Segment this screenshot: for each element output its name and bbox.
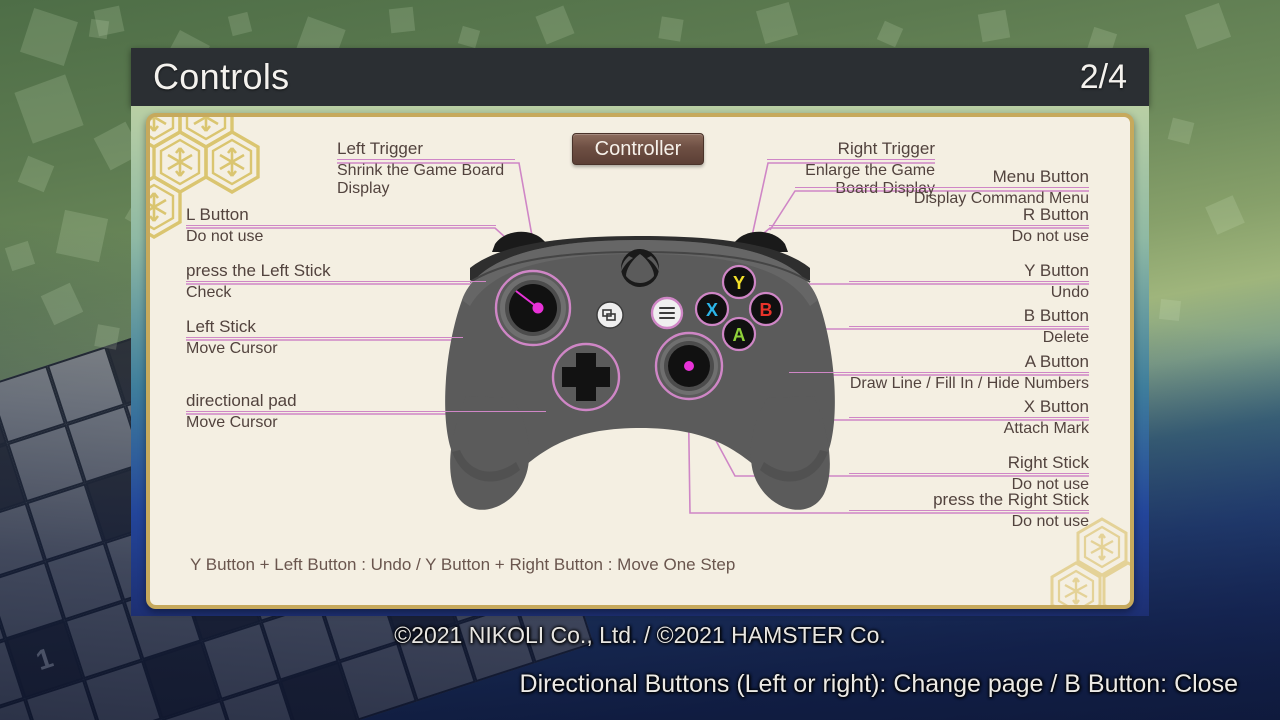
confetti-square	[389, 7, 415, 33]
label-press-right-stick: press the Right Stick Do not use	[849, 490, 1089, 531]
label-title: Left Stick	[186, 317, 463, 338]
label-title: Left Trigger	[337, 139, 515, 160]
label-action: Move Cursor	[186, 338, 463, 358]
label-title: Right Stick	[849, 453, 1089, 474]
label-action: Undo	[849, 282, 1089, 302]
label-action: Delete	[849, 327, 1089, 347]
panel-footer-note: Y Button + Left Button : Undo / Y Button…	[190, 555, 735, 575]
label-title: directional pad	[186, 391, 546, 412]
label-title: B Button	[849, 306, 1089, 327]
confetti-square	[978, 10, 1010, 42]
label-a-button: A Button Draw Line / Fill In / Hide Numb…	[789, 352, 1089, 393]
label-title: Right Trigger	[767, 139, 935, 160]
label-action: Move Cursor	[186, 412, 546, 432]
confetti-square	[89, 19, 109, 39]
label-title: press the Left Stick	[186, 261, 486, 282]
label-x-button: X Button Attach Mark	[849, 397, 1089, 438]
label-right-stick: Right Stick Do not use	[849, 453, 1089, 494]
page-indicator: 2/4	[1080, 58, 1127, 97]
label-title: R Button	[769, 205, 1089, 226]
label-action: Do not use	[849, 511, 1089, 531]
label-action: Do not use	[186, 226, 496, 246]
label-action: Draw Line / Fill In / Hide Numbers	[789, 373, 1089, 393]
label-press-left-stick: press the Left Stick Check	[186, 261, 486, 302]
confetti-square	[1159, 299, 1181, 321]
label-left-trigger: Left Trigger Shrink the Game Board Displ…	[337, 139, 515, 198]
label-b-button: B Button Delete	[849, 306, 1089, 347]
titlebar: Controls 2/4	[131, 48, 1149, 106]
section-tab-controller[interactable]: Controller	[572, 133, 704, 165]
hint-bar: Directional Buttons (Left or right): Cha…	[0, 670, 1280, 699]
label-title: X Button	[849, 397, 1089, 418]
screen: 01 1 1 11 1	[0, 0, 1280, 720]
label-title: Menu Button	[795, 167, 1089, 188]
confetti-square	[94, 324, 119, 349]
label-action: Check	[186, 282, 486, 302]
label-y-button: Y Button Undo	[849, 261, 1089, 302]
label-title: A Button	[789, 352, 1089, 373]
label-title: press the Right Stick	[849, 490, 1089, 511]
confetti-square	[658, 16, 683, 41]
label-title: L Button	[186, 205, 496, 226]
label-action: Shrink the Game Board Display	[337, 160, 515, 198]
copyright-text: ©2021 NIKOLI Co., Ltd. / ©2021 HAMSTER C…	[0, 622, 1280, 649]
label-l-button: L Button Do not use	[186, 205, 496, 246]
label-left-stick: Left Stick Move Cursor	[186, 317, 463, 358]
label-r-button: R Button Do not use	[769, 205, 1089, 246]
page-title: Controls	[153, 56, 289, 98]
label-menu-button: Menu Button Display Command Menu	[795, 167, 1089, 208]
label-action: Attach Mark	[849, 418, 1089, 438]
label-directional-pad: directional pad Move Cursor	[186, 391, 546, 432]
label-title: Y Button	[849, 261, 1089, 282]
confetti-square	[56, 210, 108, 262]
label-action: Do not use	[769, 226, 1089, 246]
